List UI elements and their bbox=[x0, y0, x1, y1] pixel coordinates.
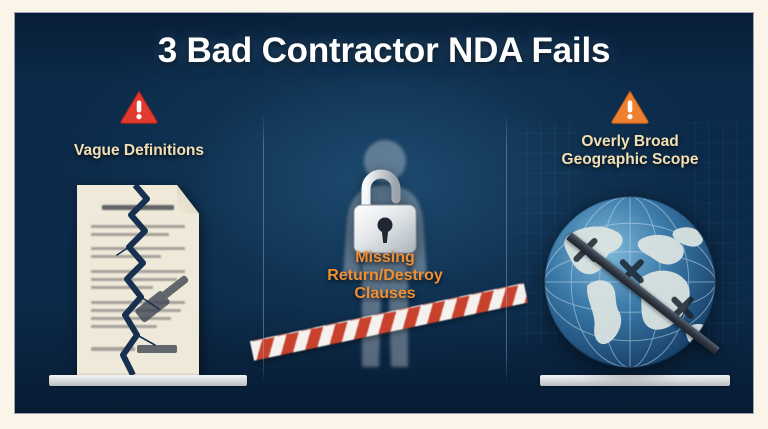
warning-triangle-icon bbox=[119, 89, 159, 125]
panel-vague-definitions: Vague Definitions bbox=[15, 13, 263, 413]
panel-missing-return-destroy-clauses: Missing Return/Destroy Clauses bbox=[264, 13, 506, 413]
panel-caption-missing-return-destroy-clauses: Missing Return/Destroy Clauses bbox=[270, 249, 500, 304]
panel-overly-broad-geographic-scope: Overly Broad Geographic Scope bbox=[507, 13, 753, 413]
torn-contract-document-icon bbox=[77, 185, 199, 375]
globe-icon bbox=[541, 193, 719, 371]
panel-divider-right bbox=[506, 113, 507, 383]
infographic-canvas: 3 Bad Contractor NDA Fails Vague Definit… bbox=[14, 12, 754, 414]
torn-crack-line bbox=[77, 185, 199, 375]
panel-divider-left bbox=[263, 113, 264, 383]
open-padlock-icon bbox=[348, 165, 422, 257]
infographic-stage: 3 Bad Contractor NDA Fails Vague Definit… bbox=[0, 0, 768, 429]
panel-caption-overly-broad-geographic-scope: Overly Broad Geographic Scope bbox=[513, 133, 747, 168]
warning-triangle-icon bbox=[610, 89, 650, 125]
page-title: 3 Bad Contractor NDA Fails bbox=[15, 31, 753, 71]
panel-progress-bar bbox=[49, 375, 247, 386]
panel-caption-vague-definitions: Vague Definitions bbox=[21, 142, 257, 160]
